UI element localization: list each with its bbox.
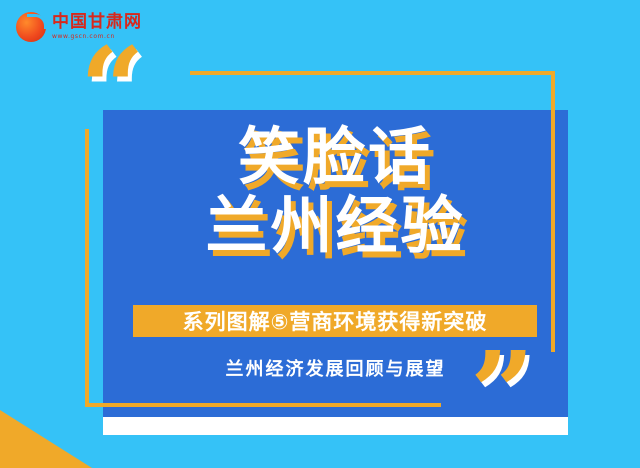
logo-site-name: 中国甘肃网 [52,14,142,31]
logo-text-block: 中国甘肃网 www.gscn.com.cn [52,14,142,40]
headline-block: 笑脸话 兰州经验 [103,122,568,261]
frame-line-bottom [85,403,441,407]
headline-line-2: 兰州经验 [103,191,568,260]
quote-open-icon: “ [80,34,144,146]
frame-line-top [190,71,555,75]
subtitle-ribbon-text: 系列图解⑤营商环境获得新突破 [183,306,488,336]
headline-line-1: 笑脸话 [103,122,568,191]
logo-site-url: www.gscn.com.cn [52,34,142,40]
quote-close-icon: ” [470,338,534,450]
site-logo[interactable]: 中国甘肃网 www.gscn.com.cn [16,12,142,42]
tagline-text: 兰州经济发展回顾与展望 [226,359,446,380]
corner-triangle-icon [0,410,92,468]
frame-line-left [85,129,89,407]
logo-mark-icon [16,12,46,42]
poster-canvas: 中国甘肃网 www.gscn.com.cn “ ” 笑脸话 兰州经验 系列图解⑤… [0,0,640,468]
